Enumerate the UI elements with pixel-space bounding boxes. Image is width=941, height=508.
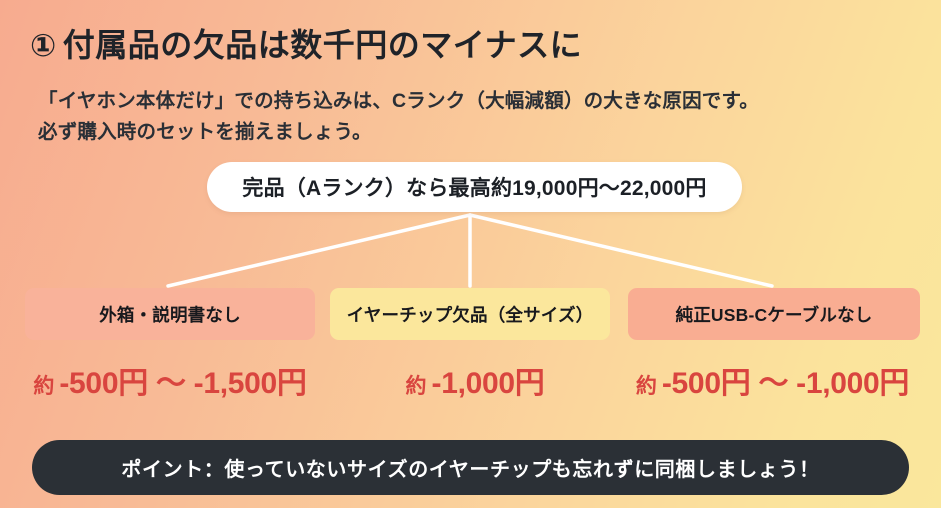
missing-item-box-2: イヤーチップ欠品（全サイズ） bbox=[330, 288, 610, 340]
deduction-price-2: 約 -1,000円 bbox=[355, 358, 595, 402]
page-title: ①付属品の欠品は数千円のマイナスに bbox=[30, 20, 920, 66]
connector-lines bbox=[0, 0, 941, 508]
missing-item-box-3: 純正USB-Cケーブルなし bbox=[628, 288, 920, 340]
infographic-slide: ①付属品の欠品は数千円のマイナスに 「イヤホン本体だけ」での持ち込みは、Cランク… bbox=[0, 0, 941, 508]
missing-item-label-2: イヤーチップ欠品（全サイズ） bbox=[347, 302, 594, 327]
page-title-text: 付属品の欠品は数千円のマイナスに bbox=[63, 27, 582, 63]
deduction-price-3: 約 -500円 〜 -1,000円 bbox=[610, 358, 935, 402]
deduction-approx-2: 約 bbox=[406, 370, 427, 400]
deduction-price-1: 約 -500円 〜 -1,500円 bbox=[10, 358, 330, 402]
deduction-amount-1: -500円 〜 -1,500円 bbox=[59, 358, 306, 402]
step-number-marker: ① bbox=[30, 28, 57, 63]
missing-item-label-3: 純正USB-Cケーブルなし bbox=[676, 302, 873, 327]
missing-item-label-1: 外箱・説明書なし bbox=[99, 302, 241, 327]
deduction-amount-2: -1,000円 bbox=[432, 358, 545, 402]
deduction-approx-3: 約 bbox=[636, 370, 657, 400]
complete-set-pill: 完品（Aランク）なら最高約19,000円〜22,000円 bbox=[207, 162, 742, 212]
tip-banner: ポイント：使っていないサイズのイヤーチップも忘れずに同梱しましょう！ bbox=[32, 440, 909, 495]
deduction-approx-1: 約 bbox=[33, 370, 54, 400]
tip-banner-text: ポイント：使っていないサイズのイヤーチップも忘れずに同梱しましょう！ bbox=[121, 453, 819, 482]
deduction-amount-3: -500円 〜 -1,000円 bbox=[662, 358, 909, 402]
missing-item-box-1: 外箱・説明書なし bbox=[25, 288, 315, 340]
subtitle-line-2: 必ず購入時のセットを揃えましょう。 bbox=[38, 115, 928, 144]
subtitle-line-1: 「イヤホン本体だけ」での持ち込みは、Cランク（大幅減額）の大きな原因です。 bbox=[38, 84, 928, 113]
complete-set-pill-text: 完品（Aランク）なら最高約19,000円〜22,000円 bbox=[242, 172, 706, 202]
